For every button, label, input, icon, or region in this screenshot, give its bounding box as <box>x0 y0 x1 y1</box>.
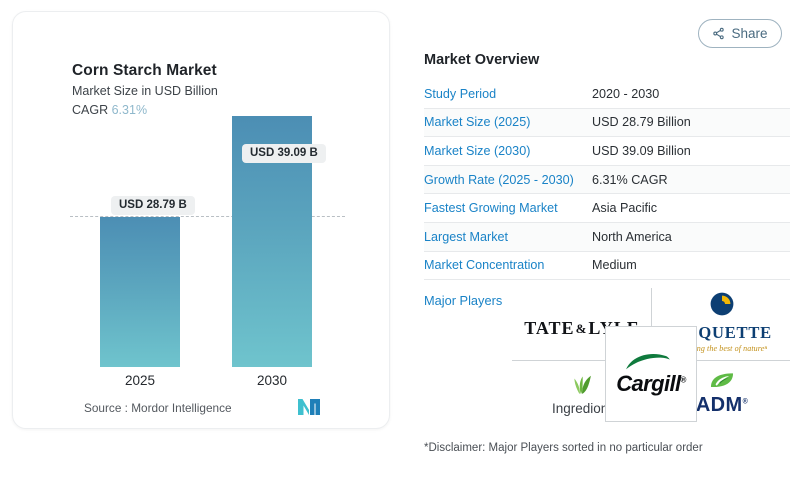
row-value: Medium <box>592 258 637 272</box>
ingredion-leaf-icon <box>571 382 593 399</box>
row-value: Asia Pacific <box>592 201 657 215</box>
overview-panel: Market Overview Study Period 2020 - 2030… <box>424 0 790 482</box>
row-value: 6.31% CAGR <box>592 173 668 187</box>
x-axis-label-2030: 2030 <box>232 373 312 388</box>
row-value: USD 28.79 Billion <box>592 115 691 129</box>
bar-2025[interactable] <box>100 217 180 367</box>
row-value: 2020 - 2030 <box>592 87 659 101</box>
bar-label-2025: USD 28.79 B <box>111 196 195 215</box>
ampersand-icon: & <box>575 321 589 336</box>
market-summary-card: Share Corn Starch Market Market Size in … <box>0 0 800 482</box>
adm-leaf-icon <box>709 376 735 393</box>
major-players-logo-grid: TATE&LYLE ROQUETTE Offering the <box>512 288 790 428</box>
table-row: Study Period 2020 - 2030 <box>424 80 790 109</box>
x-axis-label-2025: 2025 <box>100 373 180 388</box>
row-key: Market Size (2030) <box>424 144 592 158</box>
overview-table: Study Period 2020 - 2030 Market Size (20… <box>424 80 790 280</box>
tate-text: TATE <box>524 318 574 338</box>
overview-title: Market Overview <box>424 52 539 68</box>
table-row: Largest Market North America <box>424 223 790 252</box>
row-key: Growth Rate (2025 - 2030) <box>424 173 592 187</box>
roquette-circle-icon <box>710 303 734 320</box>
table-row: Market Concentration Medium <box>424 252 790 281</box>
row-value: USD 39.09 Billion <box>592 144 691 158</box>
row-value: North America <box>592 230 672 244</box>
ingredion-wordmark: Ingredion. <box>552 401 612 416</box>
row-key: Largest Market <box>424 230 592 244</box>
adm-wordmark: ADM® <box>696 394 748 417</box>
disclaimer-text: *Disclaimer: Major Players sorted in no … <box>424 442 703 454</box>
source-text: Source : Mordor Intelligence <box>84 401 232 415</box>
mordor-intelligence-logo <box>298 399 320 420</box>
row-key: Study Period <box>424 87 592 101</box>
bar-chart-plot: USD 28.79 B USD 39.09 B 2025 2030 <box>13 12 390 429</box>
table-row: Fastest Growing Market Asia Pacific <box>424 194 790 223</box>
table-row: Market Size (2030) USD 39.09 Billion <box>424 137 790 166</box>
cargill-swoosh-icon <box>616 352 686 370</box>
chart-card: Corn Starch Market Market Size in USD Bi… <box>12 11 390 429</box>
table-row: Growth Rate (2025 - 2030) 6.31% CAGR <box>424 166 790 195</box>
table-row: Market Size (2025) USD 28.79 Billion <box>424 109 790 138</box>
row-key: Fastest Growing Market <box>424 201 592 215</box>
bar-label-2030: USD 39.09 B <box>242 144 326 163</box>
major-players-label: Major Players <box>424 293 502 308</box>
logo-cargill: Cargill® <box>605 326 697 422</box>
row-key: Market Size (2025) <box>424 115 592 129</box>
row-key: Market Concentration <box>424 258 592 272</box>
cargill-wordmark: Cargill® <box>616 371 686 397</box>
